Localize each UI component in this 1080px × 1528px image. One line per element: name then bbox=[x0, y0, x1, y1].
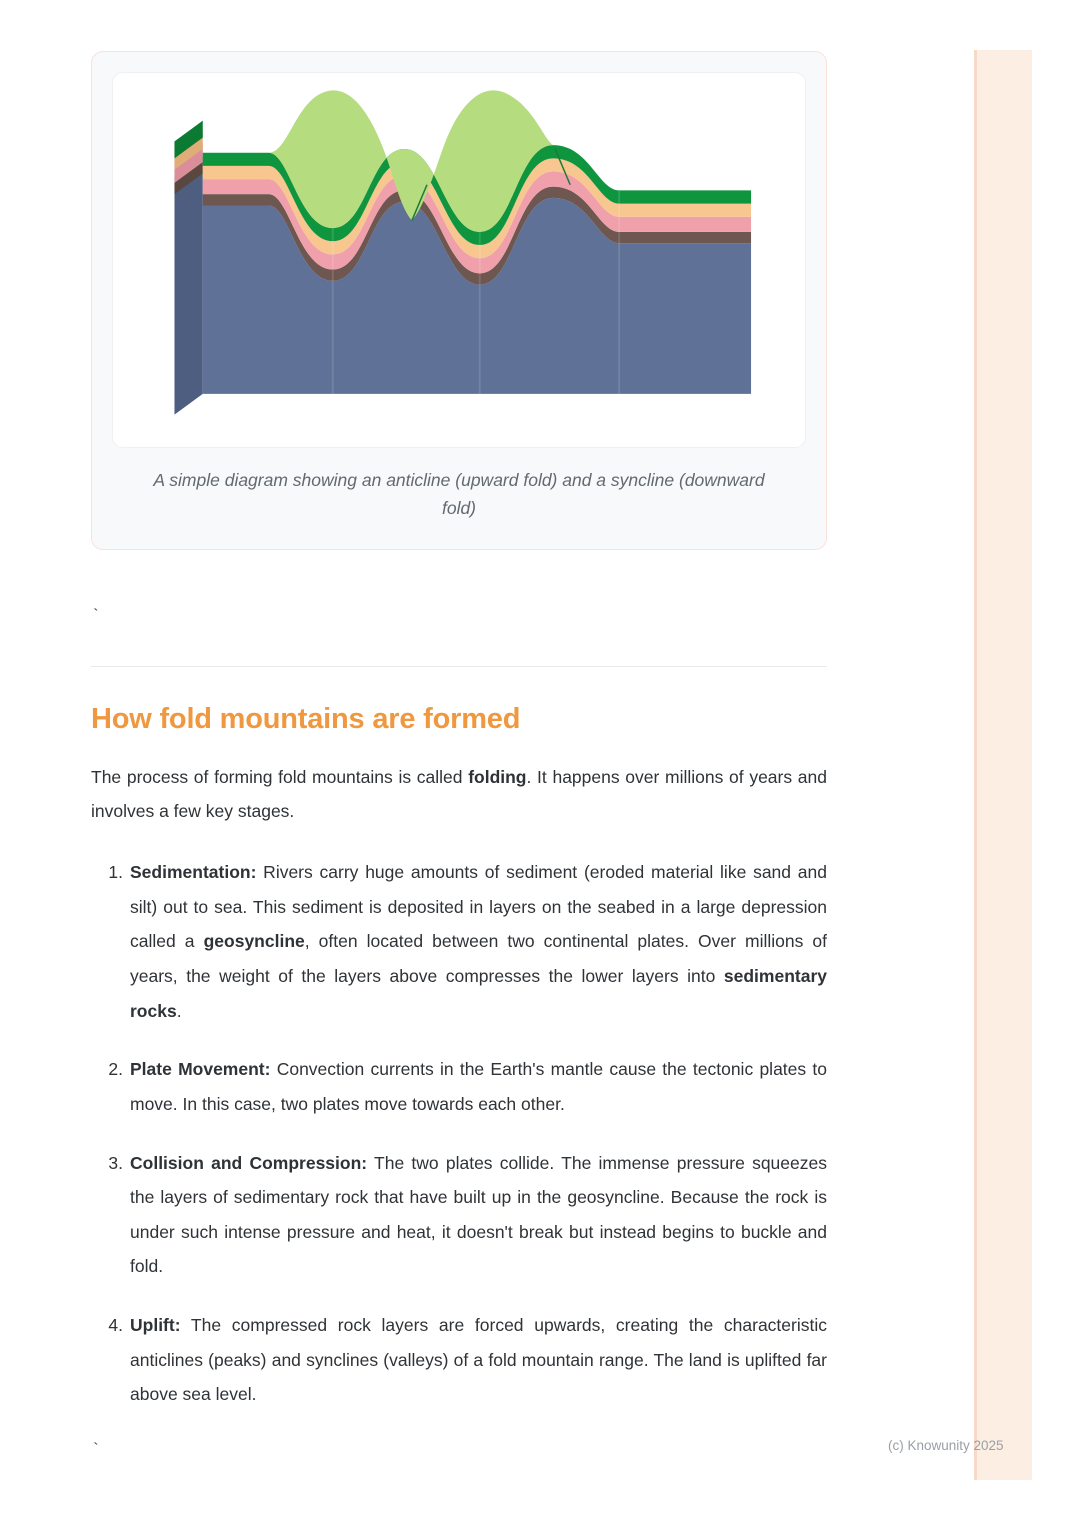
document-content: A simple diagram showing an anticline (u… bbox=[91, 0, 827, 1458]
intro-paragraph: The process of forming fold mountains is… bbox=[91, 760, 827, 829]
stage-title: Collision and Compression: bbox=[130, 1153, 367, 1173]
stage-title: Uplift: bbox=[130, 1315, 181, 1335]
section-divider bbox=[91, 666, 827, 667]
figure-caption: A simple diagram showing an anticline (u… bbox=[149, 466, 769, 523]
right-decorative-band-edge bbox=[974, 50, 977, 1480]
stray-backtick-top: ` bbox=[91, 608, 827, 624]
stray-backtick-bottom: ` bbox=[91, 1442, 827, 1458]
copyright-watermark: (c) Knowunity 2025 bbox=[888, 1438, 1004, 1453]
diagram-left-side-faces bbox=[174, 121, 202, 415]
intro-bold-folding: folding bbox=[468, 767, 526, 787]
stage-title: Plate Movement: bbox=[130, 1059, 270, 1079]
fold-mountain-cross-section-diagram bbox=[121, 83, 797, 441]
list-item: Uplift: The compressed rock layers are f… bbox=[130, 1308, 827, 1412]
figure-card: A simple diagram showing an anticline (u… bbox=[91, 51, 827, 550]
list-item: Collision and Compression: The two plate… bbox=[130, 1146, 827, 1285]
stage-text-a: The compressed rock layers are forced up… bbox=[130, 1315, 827, 1404]
stage-text-c: . bbox=[177, 1001, 182, 1021]
figure-image-frame bbox=[112, 72, 806, 448]
list-item: Sedimentation: Rivers carry huge amounts… bbox=[130, 855, 827, 1028]
stage-term-a: geosyncline bbox=[204, 931, 305, 951]
formation-stages-list: Sedimentation: Rivers carry huge amounts… bbox=[91, 855, 827, 1412]
right-decorative-band bbox=[974, 50, 1032, 1480]
section-heading: How fold mountains are formed bbox=[91, 703, 827, 736]
intro-text-part1: The process of forming fold mountains is… bbox=[91, 767, 468, 787]
stage-title: Sedimentation: bbox=[130, 862, 256, 882]
list-item: Plate Movement: Convection currents in t… bbox=[130, 1052, 827, 1121]
